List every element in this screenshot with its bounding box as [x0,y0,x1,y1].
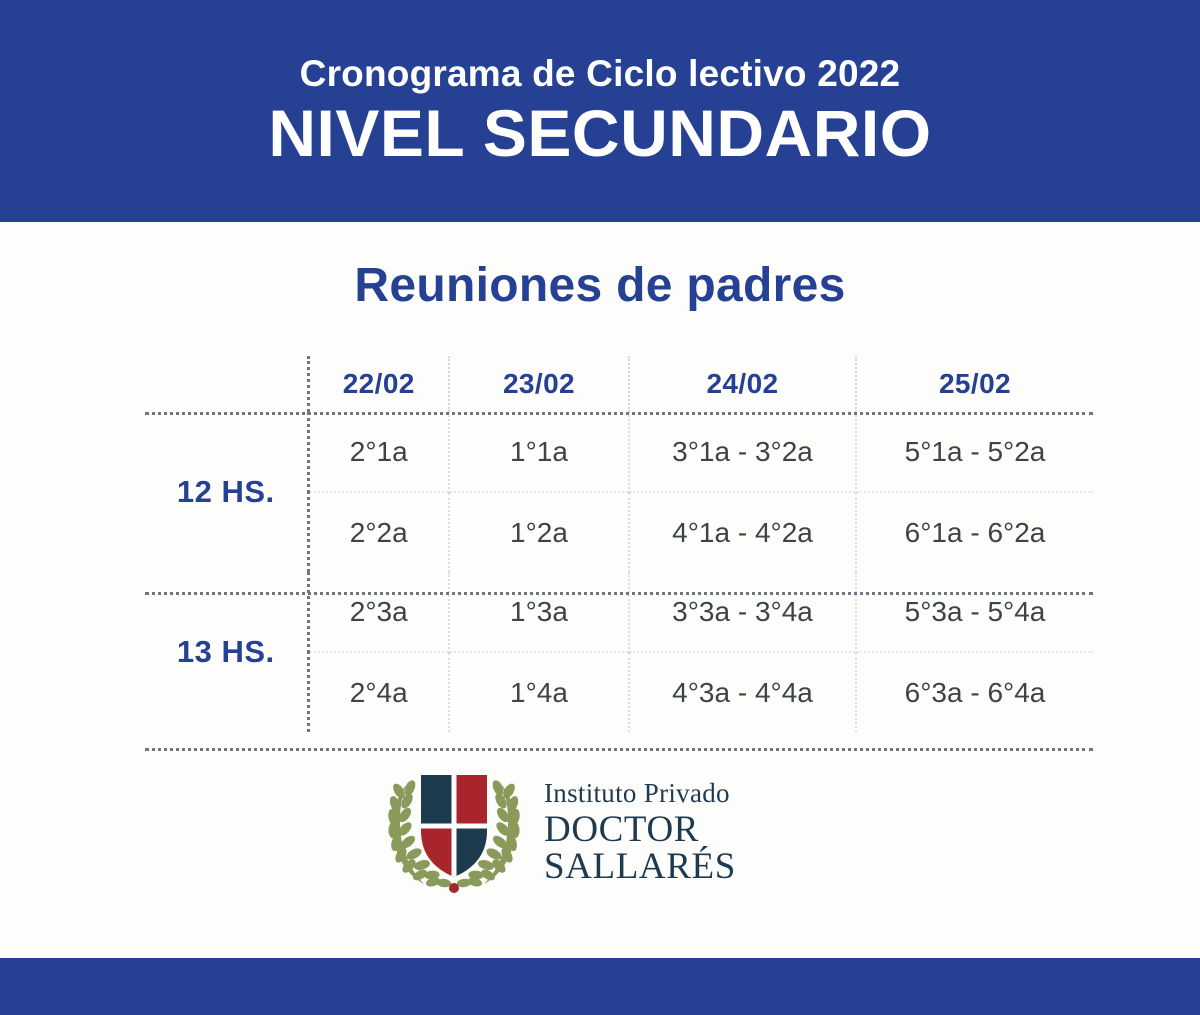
table-body: 12 HS. 2°1a 1°1a 3°1a - 3°2a 5°1a - 5°2a… [145,412,1093,732]
section-subtitle: Reuniones de padres [0,258,1200,313]
column-header-date-2: 23/02 [449,356,629,412]
table-cell: 4°1a - 4°2a [629,492,856,572]
table-header: 22/02 23/02 24/02 25/02 [145,356,1093,412]
table-cell: 1°2a [449,492,629,572]
table-cell: 3°3a - 3°4a [629,572,856,652]
page-title: NIVEL SECUNDARIO [268,99,931,168]
table-header-row: 22/02 23/02 24/02 25/02 [145,356,1093,412]
table-cell: 6°3a - 6°4a [856,652,1093,732]
table-cell: 1°1a [449,412,629,492]
table-cell: 4°3a - 4°4a [629,652,856,732]
table-cell: 2°4a [308,652,449,732]
table-divider-top [145,412,1093,415]
institution-logo: Instituto Privado DOCTOR SALLARÉS [380,768,820,896]
schedule-table-wrapper: 22/02 23/02 24/02 25/02 12 HS. 2°1a 1°1a… [145,356,1093,732]
table-cell: 3°1a - 3°2a [629,412,856,492]
column-header-date-3: 24/02 [629,356,856,412]
logo-wordmark: Instituto Privado DOCTOR SALLARÉS [544,780,820,885]
row-header-time-1: 12 HS. [145,412,308,572]
poster-canvas: Cronograma de Ciclo lectivo 2022 NIVEL S… [0,0,1200,1015]
table-divider-bottom [145,748,1093,751]
table-cell: 6°1a - 6°2a [856,492,1093,572]
table-corner-cell [145,356,308,412]
table-row: 13 HS. 2°3a 1°3a 3°3a - 3°4a 5°3a - 5°4a [145,572,1093,652]
table-cell: 2°3a [308,572,449,652]
footer-banner [0,958,1200,1015]
table-cell: 2°2a [308,492,449,572]
column-header-date-1: 22/02 [308,356,449,412]
logo-line-name: DOCTOR SALLARÉS [544,811,820,885]
shield-laurel-crest-icon [380,769,528,895]
header-eyebrow: Cronograma de Ciclo lectivo 2022 [300,54,901,95]
table-cell: 1°4a [449,652,629,732]
column-header-date-4: 25/02 [856,356,1093,412]
table-row: 12 HS. 2°1a 1°1a 3°1a - 3°2a 5°1a - 5°2a [145,412,1093,492]
table-divider-middle [145,592,1093,595]
header-banner: Cronograma de Ciclo lectivo 2022 NIVEL S… [0,0,1200,222]
table-cell: 1°3a [449,572,629,652]
table-cell: 5°1a - 5°2a [856,412,1093,492]
row-header-time-2: 13 HS. [145,572,308,732]
table-cell: 5°3a - 5°4a [856,572,1093,652]
logo-line-instituto: Instituto Privado [544,780,820,807]
table-cell: 2°1a [308,412,449,492]
